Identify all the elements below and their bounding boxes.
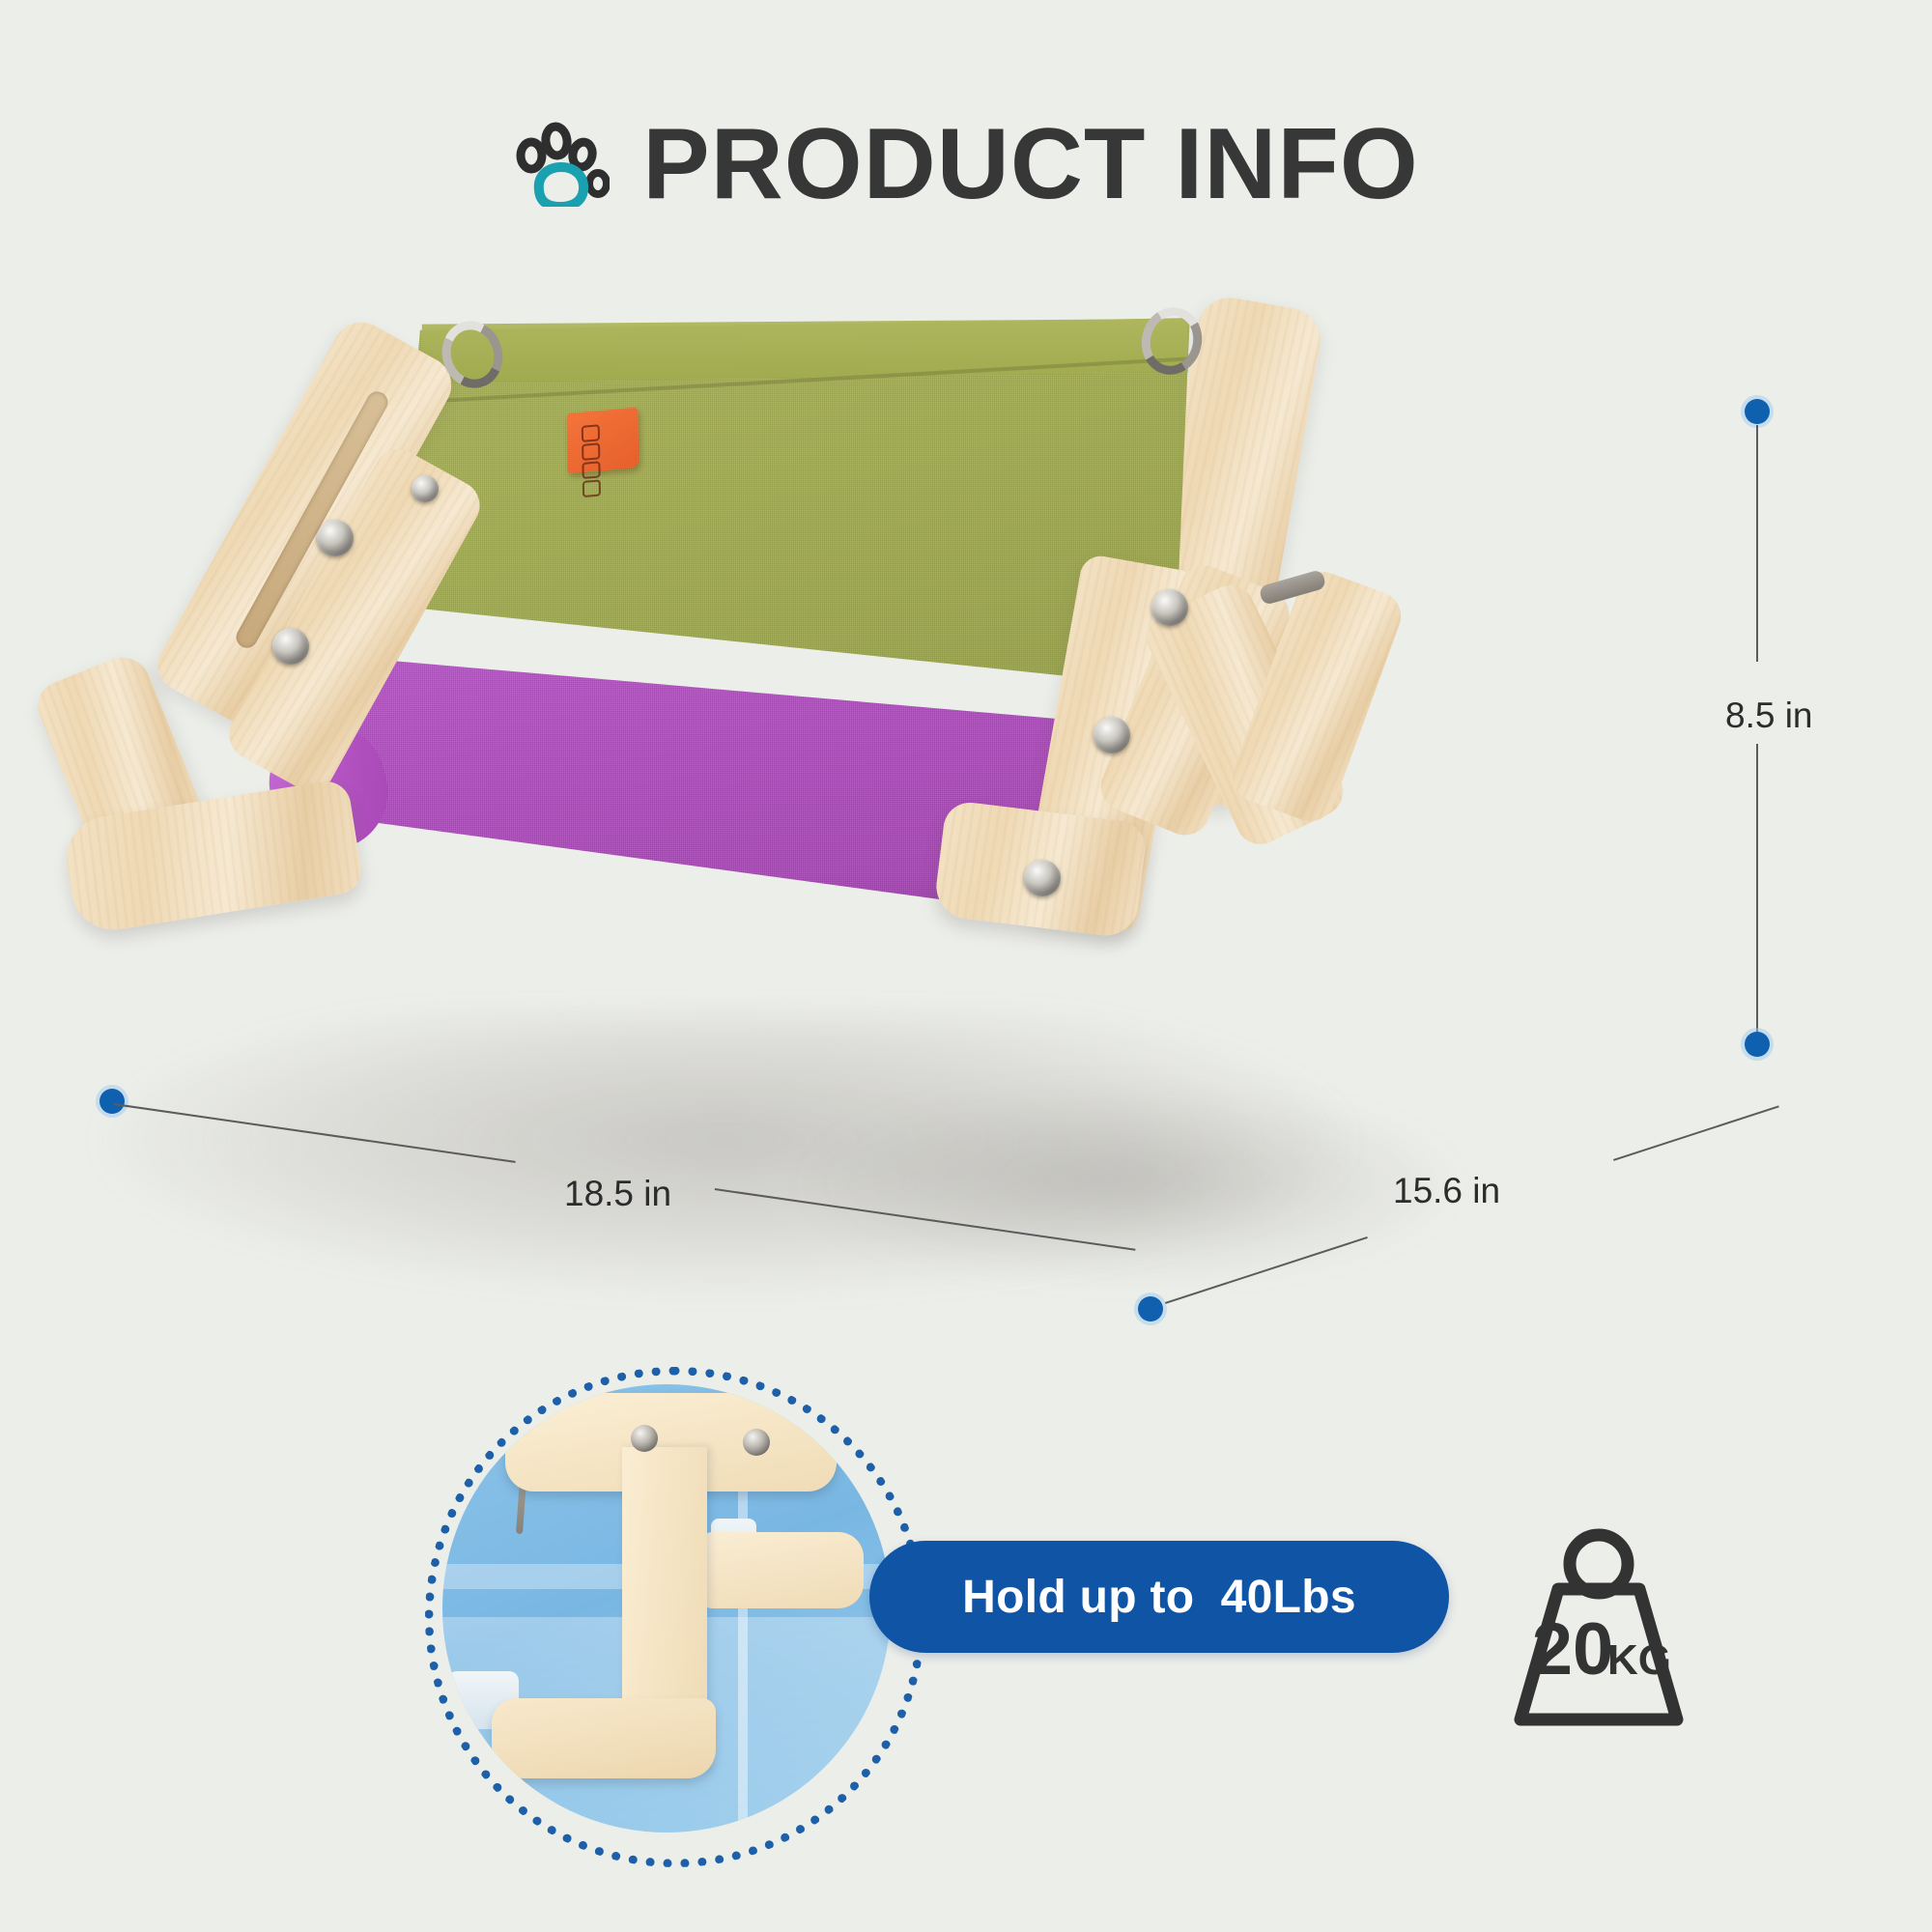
capacity-badge: Hold up to 40Lbs [869,1541,1449,1653]
weight-kg-icon: 20 KG [1497,1521,1700,1744]
dim-label-width: 18.5 in [564,1174,671,1214]
dim-point-height-bottom [1745,1032,1770,1057]
page-root: PRODUCT INFO [0,0,1932,1932]
brand-tag [567,408,639,474]
pivot-rivet-left [412,475,439,502]
product-photo [58,270,1662,1314]
pivot-rivet-right-upper [1151,589,1188,626]
dim-line-height-upper [1756,425,1758,662]
dim-point-height-top [1745,399,1770,424]
weight-unit: KG [1607,1636,1671,1684]
hook-rivet-a [631,1425,658,1452]
adjust-knob-left-lower [272,628,309,665]
hook-arm-right [702,1532,864,1608]
capacity-badge-label: Hold up to 40Lbs [962,1571,1356,1624]
pivot-rivet-right-mid [1094,717,1130,753]
weight-value: 20 [1532,1608,1614,1690]
page-title: PRODUCT INFO [642,114,1419,214]
dim-label-depth: 15.6 in [1393,1171,1500,1211]
page-header: PRODUCT INFO [0,108,1932,214]
floor-shadow-secondary [792,1082,1468,1285]
pivot-rivet-right-lower [1024,860,1061,896]
dim-label-height: 8.5 in [1725,696,1813,736]
dim-point-width-right [1138,1296,1163,1321]
dim-line-height-lower [1756,744,1758,1038]
detail-section: Hold up to 40Lbs 20 KG [425,1367,1565,1869]
detail-closeup-photo [442,1384,891,1833]
paw-print-icon [513,116,610,207]
adjust-knob-left-upper [317,520,354,556]
hook-arm-bottom [492,1698,716,1779]
dim-point-width-left [99,1089,125,1114]
brand-tag-logo-icon [581,421,619,458]
